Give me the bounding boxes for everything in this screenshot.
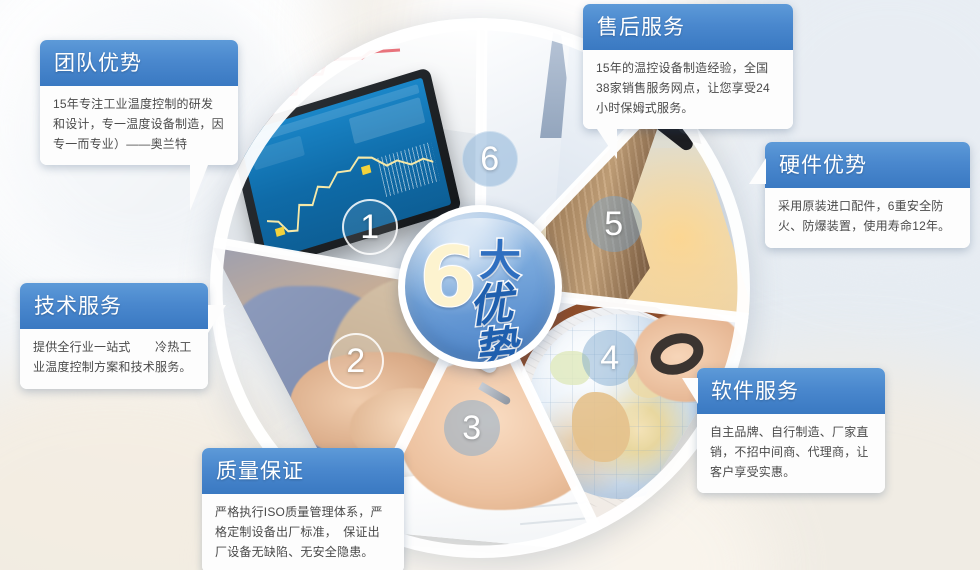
card-inner: 质量保证 严格执行ISO质量管理体系，严格定制设备出厂标准， 保证出厂设备无缺陷… [202, 448, 404, 570]
card-body-after-sales: 15年的温控设备制造经验，全国38家销售服务网点，让您享受24小时保姆式服务。 [583, 50, 793, 129]
card-body-tech: 提供全行业一站式 冷热工业温度控制方案和技术服务。 [20, 329, 208, 389]
card-title-after-sales: 售后服务 [583, 4, 793, 50]
card-title-software: 软件服务 [697, 368, 885, 414]
badge-6[interactable]: 6 [462, 131, 518, 187]
card-inner: 技术服务 提供全行业一站式 冷热工业温度控制方案和技术服务。 [20, 283, 208, 389]
callout-tail [597, 129, 617, 159]
badge-4[interactable]: 4 [582, 330, 638, 386]
card-title-tech: 技术服务 [20, 283, 208, 329]
callout-card-team[interactable]: 团队优势 15年专注工业温度控制的研发和设计，专一温度设备制造，因专一而专业）—… [40, 40, 238, 165]
badge-2[interactable]: 2 [328, 333, 384, 389]
badge-5[interactable]: 5 [586, 196, 642, 252]
callout-tail [682, 378, 698, 404]
callout-tail [190, 165, 208, 211]
card-inner: 售后服务 15年的温控设备制造经验，全国38家销售服务网点，让您享受24小时保姆… [583, 4, 793, 129]
card-body-hardware: 采用原装进口配件，6重安全防火、防爆装置，使用寿命12年。 [765, 188, 970, 248]
card-title-hardware: 硬件优势 [765, 142, 970, 188]
card-inner: 硬件优势 采用原装进口配件，6重安全防火、防爆装置，使用寿命12年。 [765, 142, 970, 248]
callout-card-hardware[interactable]: 硬件优势 采用原装进口配件，6重安全防火、防爆装置，使用寿命12年。 [765, 142, 970, 248]
callout-card-tech[interactable]: 技术服务 提供全行业一站式 冷热工业温度控制方案和技术服务。 [20, 283, 208, 389]
medallion-word-youshi: 优势 [467, 278, 555, 362]
center-medallion[interactable]: 6 大 优势 [398, 205, 562, 369]
infographic-canvas: 1 2 3 4 5 6 6 大 优势 团队优势 15年专注工业温度控制的研发和设… [0, 0, 980, 570]
card-inner: 软件服务 自主品牌、自行制造、厂家直销，不招中间商、代理商，让客户享受实惠。 [697, 368, 885, 493]
medallion-face: 6 大 优势 [405, 212, 555, 362]
badge-1[interactable]: 1 [342, 199, 398, 255]
card-inner: 团队优势 15年专注工业温度控制的研发和设计，专一温度设备制造，因专一而专业）—… [40, 40, 238, 165]
badge-3[interactable]: 3 [444, 400, 500, 456]
card-title-team: 团队优势 [40, 40, 238, 86]
callout-tail [208, 305, 226, 333]
callout-card-quality[interactable]: 质量保证 严格执行ISO质量管理体系，严格定制设备出厂标准， 保证出厂设备无缺陷… [202, 448, 404, 570]
card-body-software: 自主品牌、自行制造、厂家直销，不招中间商、代理商，让客户享受实惠。 [697, 414, 885, 493]
callout-tail [749, 158, 766, 184]
card-body-quality: 严格执行ISO质量管理体系，严格定制设备出厂标准， 保证出厂设备无缺陷、无安全隐… [202, 494, 404, 570]
callout-card-after-sales[interactable]: 售后服务 15年的温控设备制造经验，全国38家销售服务网点，让您享受24小时保姆… [583, 4, 793, 129]
card-body-team: 15年专注工业温度控制的研发和设计，专一温度设备制造，因专一而专业）——奥兰特 [40, 86, 238, 165]
card-title-quality: 质量保证 [202, 448, 404, 494]
medallion-word-da: 大 [479, 240, 521, 282]
callout-card-software[interactable]: 软件服务 自主品牌、自行制造、厂家直销，不招中间商、代理商，让客户享受实惠。 [697, 368, 885, 493]
